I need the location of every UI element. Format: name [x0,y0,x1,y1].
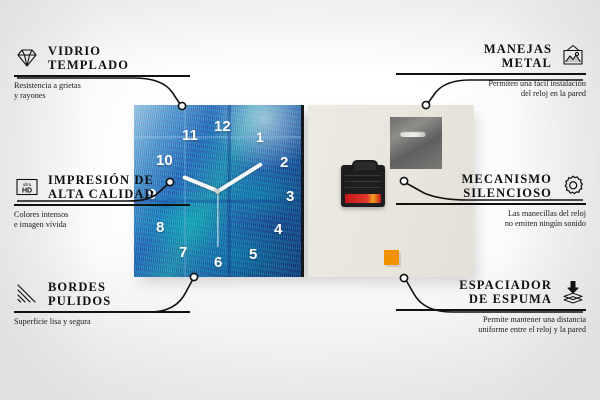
clock-second-hand [217,191,218,247]
feature-subtext-line1: Superficie lisa y segura [14,317,204,328]
feature-header: BORDES PULIDOS [14,280,204,308]
feature-header: ultra HD IMPRESIÓN DE ALTA CALIDAD [14,173,204,201]
diamond-icon [14,45,40,71]
feature-title: IMPRESIÓN DE ALTA CALIDAD [48,173,155,201]
feature-subtext-line2: del reloj en la pared [396,89,586,100]
feature-bordes-pulidos: BORDES PULIDOS Superficie lisa y segura [14,280,204,327]
metal-hanger-plate [390,117,442,169]
feature-title: ESPACIADOR DE ESPUMA [459,278,552,306]
feature-title-line1: BORDES [48,280,111,294]
feature-rule [396,309,586,311]
feature-title-line2: SILENCIOSO [462,186,552,200]
feature-subtext-line2: e imagen vívida [14,220,204,231]
svg-text:ultra: ultra [23,182,32,187]
picture-hanger-icon [560,43,586,69]
feature-subtext-line2: uniforme entre el reloj y la pared [396,325,586,336]
infographic-stage: 12 1 2 3 4 5 6 7 8 9 10 11 [0,0,600,400]
feature-subtext-line1: Colores intensos [14,210,204,221]
clock-numeral-5: 5 [249,247,257,262]
ultra-hd-icon: ultra HD [14,174,40,200]
feature-header: MANEJAS METAL [396,42,586,70]
svg-text:HD: HD [22,188,32,195]
feature-subtext: Resistencia a grietas y rayones [14,81,204,102]
feature-espaciador-de-espuma: ESPACIADOR DE ESPUMA Permite mantener un… [396,278,586,336]
clock-numeral-2: 2 [280,155,288,170]
clock-numeral-1: 1 [256,130,264,144]
feature-title: BORDES PULIDOS [48,280,111,308]
feature-title-line2: TEMPLADO [48,58,129,72]
feature-subtext-line1: Permiten una fácil instalación [396,79,586,90]
mechanism-battery [345,194,381,203]
clock-numeral-4: 4 [274,222,282,237]
feature-title-line2: PULIDOS [48,294,111,308]
feature-subtext-line1: Las manecillas del reloj [396,209,586,220]
feature-rule [396,73,586,75]
feature-title: MECANISMO SILENCIOSO [462,172,552,200]
feature-title-line1: VIDRIO [48,44,129,58]
feature-title-line1: MANEJAS [484,42,552,56]
feature-title-line1: IMPRESIÓN DE [48,173,155,187]
mechanism-detail-line [345,187,381,188]
gear-icon [560,173,586,199]
feature-rule [14,311,190,313]
feature-subtext: Superficie lisa y segura [14,317,204,328]
feature-subtext: Colores intensos e imagen vívida [14,210,204,231]
feature-subtext-line2: no emiten ningún sonido [396,219,586,230]
clock-numeral-6: 6 [214,255,222,270]
feature-rule [14,204,190,206]
feature-subtext-line2: y rayones [14,91,204,102]
feature-title: MANEJAS METAL [484,42,552,70]
feature-subtext: Permiten una fácil instalación del reloj… [396,79,586,100]
clock-center-cap [215,189,220,194]
feature-subtext: Permite mantener una distancia uniforme … [396,315,586,336]
feature-mecanismo-silencioso: MECANISMO SILENCIOSO Las manecillas del … [396,172,586,230]
feature-subtext-line1: Permite mantener una distancia [396,315,586,326]
feature-impresion-alta-calidad: ultra HD IMPRESIÓN DE ALTA CALIDAD Color… [14,173,204,231]
feature-title-line2: DE ESPUMA [459,292,552,306]
feature-rule [14,75,190,77]
clock-numeral-7: 7 [179,245,187,260]
foam-spacer-icon [560,279,586,305]
clock-numeral-12: 12 [214,119,231,134]
feature-title-line2: METAL [484,56,552,70]
feature-subtext: Las manecillas del reloj no emiten ningú… [396,209,586,230]
feature-title-line1: MECANISMO [462,172,552,186]
feature-rule [396,203,586,205]
feature-vidrio-templado: VIDRIO TEMPLADO Resistencia a grietas y … [14,44,204,102]
mechanism-detail-line [345,181,381,182]
hanger-slot [400,131,426,137]
feature-header: MECANISMO SILENCIOSO [396,172,586,200]
feature-title: VIDRIO TEMPLADO [48,44,129,72]
feature-header: VIDRIO TEMPLADO [14,44,204,72]
clock-numeral-11: 11 [182,128,198,143]
clock-numeral-3: 3 [286,189,294,204]
mechanism-hanging-loop [352,160,378,170]
bevelled-edge-icon [14,281,40,307]
feature-header: ESPACIADOR DE ESPUMA [396,278,586,306]
mechanism-detail-line [345,175,381,176]
clock-mechanism [341,165,385,207]
feature-title-line2: ALTA CALIDAD [48,187,155,201]
feature-subtext-line1: Resistencia a grietas [14,81,204,92]
clock-numeral-10: 10 [156,153,173,168]
feature-manejas-metal: MANEJAS METAL Permiten una fácil instala… [396,42,586,100]
foam-spacer-square [384,250,399,265]
feature-title-line1: ESPACIADOR [459,278,552,292]
